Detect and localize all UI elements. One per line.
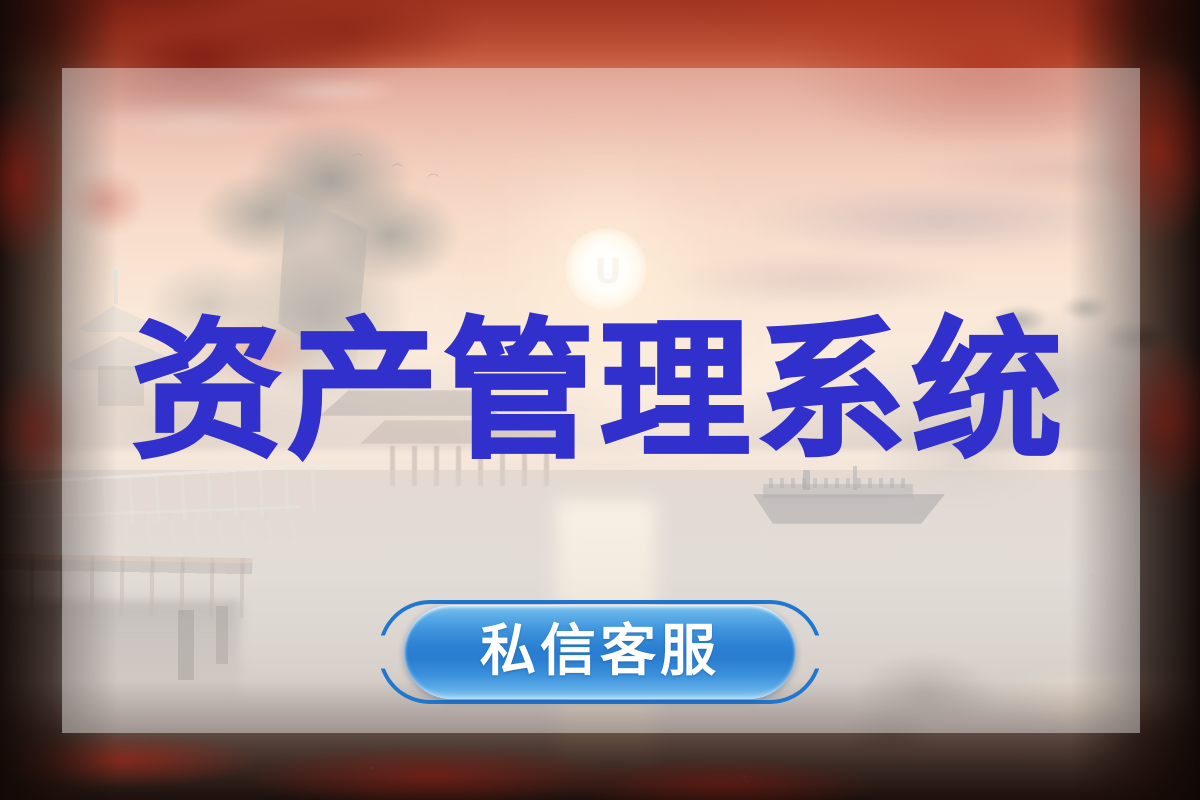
banner-stage: U ⌒ ⌒ ⌒ (0, 0, 1200, 800)
ship-silhouette (745, 470, 945, 530)
cta-container: 私信客服 (378, 592, 822, 712)
bird-icon: ⌒ (428, 176, 444, 183)
contact-support-button-label: 私信客服 (480, 622, 720, 682)
pier-post (178, 610, 194, 680)
sun-watermark: U (586, 252, 628, 292)
bird-icon: ⌒ (352, 156, 368, 163)
bird-icon: ⌒ (392, 166, 408, 173)
ship-superstructure (769, 478, 909, 488)
contact-support-button[interactable]: 私信客服 (404, 605, 796, 699)
pier-post (216, 606, 228, 664)
foreground-top-strip (0, 0, 1200, 66)
page-title: 资产管理系统 (0, 312, 1200, 472)
